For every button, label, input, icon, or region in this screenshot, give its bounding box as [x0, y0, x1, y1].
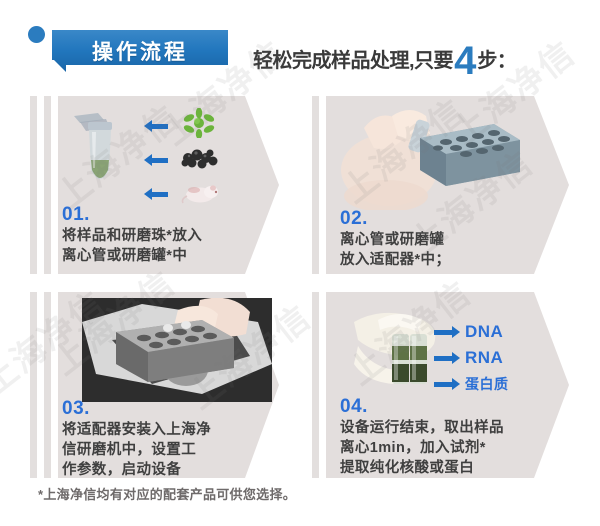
output-label-protein: 蛋白质	[465, 374, 509, 394]
step-card-4: DNA RNA 蛋白质 04. 设备运行结束，取出样品 离心1min，加入试剂*…	[312, 292, 570, 478]
mouse-icon	[180, 180, 222, 209]
headline-text-after: 步：	[477, 46, 516, 76]
step-4-text: 设备运行结束，取出样品 离心1min，加入试剂* 提取纯化核酸或蛋白	[340, 418, 556, 478]
arrow-right-icon	[434, 326, 460, 338]
step-2-number: 02.	[340, 208, 368, 230]
step-card-2: 02. 离心管或研磨罐 放入适配器*中；	[312, 96, 570, 274]
arrow-right-icon	[434, 378, 460, 390]
arrow-right-icon	[434, 352, 460, 364]
arrow-to-tube-3	[144, 188, 170, 200]
step-4-number: 04.	[340, 396, 368, 418]
header: 操作流程 轻松完成样品处理,只要 4 步：	[0, 0, 600, 88]
headline-text-before: 轻松完成样品处理,只要	[253, 46, 453, 76]
output-row-dna: DNA	[434, 322, 509, 342]
hand-installing-adapter-photo	[82, 298, 272, 402]
footnote: *上海净信均有对应的配套产品可供您选择。	[38, 484, 296, 503]
infographic-page: 操作流程 轻松完成样品处理,只要 4 步：	[0, 0, 600, 526]
arrow-to-tube-2	[144, 154, 170, 166]
output-row-protein: 蛋白质	[434, 374, 509, 394]
output-label-rna: RNA	[465, 348, 503, 368]
step-3-number: 03.	[62, 398, 90, 420]
headline-step-count: 4	[454, 43, 476, 79]
output-row-rna: RNA	[434, 348, 509, 368]
output-label-dna: DNA	[465, 322, 503, 342]
step-1-number: 01.	[62, 204, 90, 226]
step-card-3: 03. 将适配器安装入上海净 信研磨机中，设置工 作参数，启动设备	[30, 292, 280, 478]
leaf-icon	[182, 108, 216, 143]
section-banner-label: 操作流程	[52, 30, 228, 72]
arrow-to-tube-1	[144, 120, 170, 132]
hand-holding-adapter-photo	[334, 100, 529, 210]
centrifuge-tube-icon	[66, 108, 136, 198]
output-list: DNA RNA 蛋白质	[434, 322, 509, 400]
step-2-text: 离心管或研磨罐 放入适配器*中；	[340, 230, 550, 270]
grinding-beads-icon	[180, 144, 220, 175]
step-3-text: 将适配器安装入上海净 信研磨机中，设置工 作参数，启动设备	[62, 420, 262, 480]
step-1-text: 将样品和研磨珠*放入 离心管或研磨罐*中	[62, 226, 272, 266]
banner-dot-icon	[28, 26, 45, 43]
step-card-1: 01. 将样品和研磨珠*放入 离心管或研磨罐*中	[30, 96, 280, 274]
page-headline: 轻松完成样品处理,只要 4 步：	[253, 30, 516, 76]
